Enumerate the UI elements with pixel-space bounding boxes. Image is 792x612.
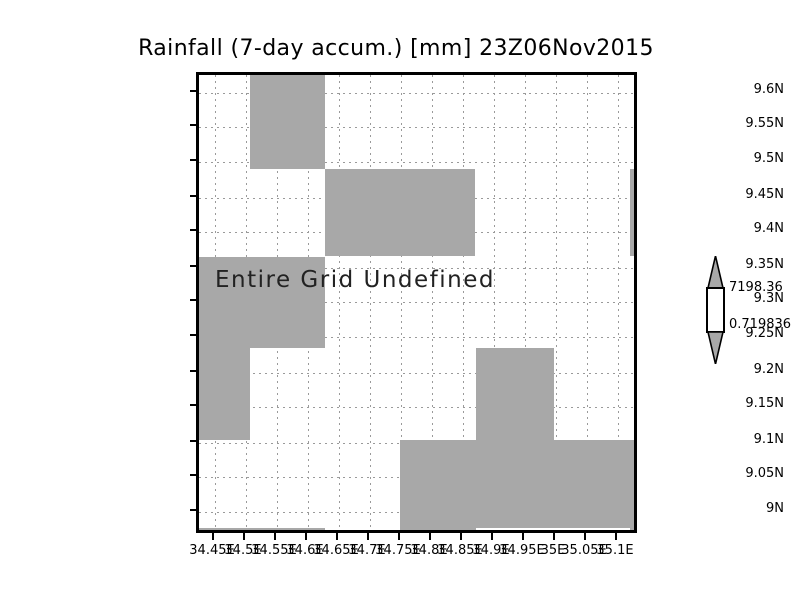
- x-axis-tick: [615, 533, 617, 540]
- heatmap-cell: [476, 348, 554, 440]
- colorbar-legend: 7198.36 0.719836: [700, 256, 790, 366]
- x-axis-tick: [491, 533, 493, 540]
- y-axis-tick-label: 9.4N: [602, 221, 792, 236]
- y-axis-tick: [190, 334, 197, 336]
- heatmap-cell: [199, 348, 250, 440]
- y-axis-tick: [190, 440, 197, 442]
- heatmap-cell: [325, 169, 475, 256]
- y-axis-tick: [190, 265, 197, 267]
- heatmap-cell: [630, 169, 634, 256]
- y-axis-tick: [190, 299, 197, 301]
- heatmap-cell: [250, 75, 325, 169]
- plot-area: Entire Grid Undefined: [199, 75, 634, 530]
- x-axis-tick: [305, 533, 307, 540]
- y-axis-tick: [190, 159, 197, 161]
- y-axis-tick: [190, 474, 197, 476]
- y-axis-tick: [190, 229, 197, 231]
- page-title: Rainfall (7-day accum.) [mm] 23Z06Nov201…: [0, 36, 792, 61]
- plot-canvas: Rainfall (7-day accum.) [mm] 23Z06Nov201…: [0, 0, 792, 612]
- y-axis-tick-label: 9.15N: [602, 396, 792, 411]
- colorbar-max-label: 7198.36: [729, 280, 783, 295]
- heatmap-cell: [400, 528, 476, 533]
- colorbar-min-label: 0.719836: [729, 317, 791, 332]
- x-axis-tick: [460, 533, 462, 540]
- y-axis-tick-label: 9.5N: [602, 151, 792, 166]
- x-axis-tick: [243, 533, 245, 540]
- x-axis-tick: [274, 533, 276, 540]
- y-axis-tick-label: 9N: [602, 501, 792, 516]
- y-axis-tick-label: 9.45N: [602, 187, 792, 202]
- colorbar-swatch: [706, 287, 725, 333]
- y-axis-tick: [190, 370, 197, 372]
- y-axis-tick: [190, 124, 197, 126]
- colorbar-top-arrow-icon: [706, 256, 725, 288]
- y-axis-tick-label: 9.05N: [602, 466, 792, 481]
- heatmap-cells: [199, 75, 634, 530]
- colorbar-bottom-arrow-icon: [706, 332, 725, 364]
- x-axis-tick: [367, 533, 369, 540]
- x-axis-tick-label: 35.1E: [596, 543, 633, 558]
- x-axis-tick: [553, 533, 555, 540]
- x-axis-tick: [398, 533, 400, 540]
- x-axis-tick: [212, 533, 214, 540]
- x-axis-tick-label: 34.95E: [499, 543, 544, 558]
- heatmap-cell: [400, 440, 634, 528]
- heatmap-cell: [630, 528, 634, 533]
- x-axis-tick: [584, 533, 586, 540]
- x-axis-tick: [336, 533, 338, 540]
- y-axis-tick-label: 9.1N: [602, 432, 792, 447]
- y-axis-tick: [190, 404, 197, 406]
- plot-frame: Entire Grid Undefined: [196, 72, 637, 533]
- x-axis-tick: [522, 533, 524, 540]
- y-axis-tick: [190, 90, 197, 92]
- y-axis-tick-label: 9.55N: [602, 116, 792, 131]
- undefined-grid-message: Entire Grid Undefined: [215, 267, 495, 293]
- x-axis-tick: [429, 533, 431, 540]
- y-axis-tick-label: 9.6N: [602, 82, 792, 97]
- y-axis-tick: [190, 509, 197, 511]
- y-axis-tick: [190, 195, 197, 197]
